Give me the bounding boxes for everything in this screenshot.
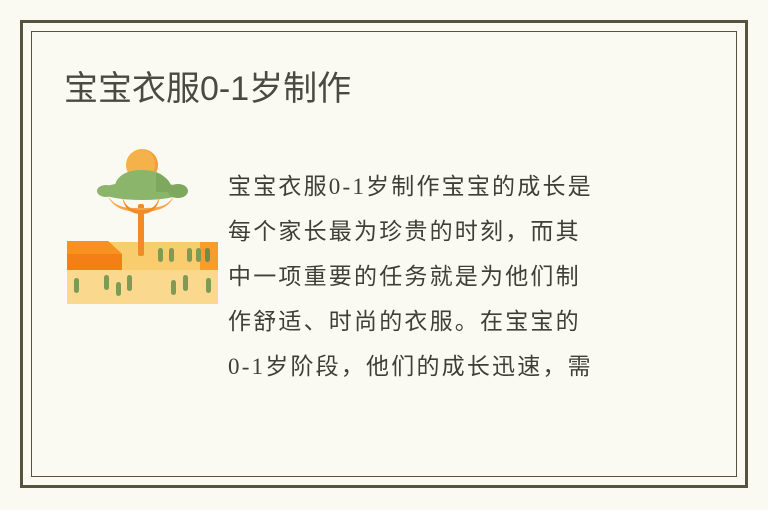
savanna-illustration-icon (60, 142, 225, 307)
article-content: 宝宝衣服0-1岁制作 (32, 32, 736, 476)
inner-frame: 宝宝衣服0-1岁制作 (31, 31, 737, 477)
paragraph-line: 每个家长最为珍贵的时刻，而其 (228, 209, 660, 254)
paragraph-line: 中一项重要的任务就是为他们制 (228, 254, 660, 299)
outer-frame: 宝宝衣服0-1岁制作 (20, 20, 748, 488)
paragraph-line: 0-1岁阶段，他们的成长迅速，需 (228, 344, 660, 389)
page-root: 宝宝衣服0-1岁制作 (0, 0, 768, 510)
paragraph-line: 宝宝衣服0-1岁制作宝宝的成长是 (228, 164, 660, 209)
article-thumbnail (60, 142, 225, 307)
article-paragraph: 宝宝衣服0-1岁制作宝宝的成长是 每个家长最为珍贵的时刻，而其 中一项重要的任务… (228, 164, 660, 389)
paragraph-line: 作舒适、时尚的衣服。在宝宝的 (228, 299, 660, 344)
page-title: 宝宝衣服0-1岁制作 (64, 66, 351, 112)
